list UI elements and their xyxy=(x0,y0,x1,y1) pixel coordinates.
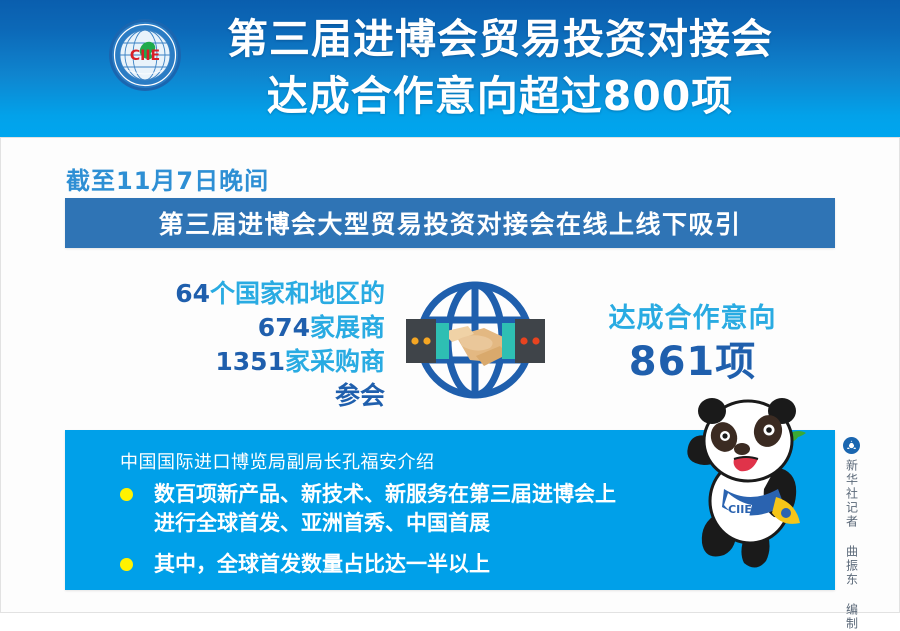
stat-label: 参会 xyxy=(335,381,385,410)
deal-label: 达成合作意向 xyxy=(565,302,820,336)
bullet-dot-icon xyxy=(120,558,133,571)
infographic-root: CIIE 第三届进博会贸易投资对接会 达成合作意向超过800项 截至11月7日晚… xyxy=(0,0,900,613)
stat-row: 674家展商 xyxy=(110,311,385,345)
stats-right-group: 达成合作意向 861项 xyxy=(565,302,820,386)
subtitle-banner-text: 第三届进博会大型贸易投资对接会在线上线下吸引 xyxy=(158,205,741,241)
deal-value: 861项 xyxy=(565,338,820,386)
list-item-line: 数百项新产品、新技术、新服务在第三届进博会上 xyxy=(154,480,740,509)
list-item: 其中，全球首发数量占比达一半以上 xyxy=(120,550,740,579)
xinhua-logo-icon xyxy=(843,437,860,454)
credit-block: 新华社记者 曲振东 编制 xyxy=(838,437,864,631)
stat-number: 64 xyxy=(175,279,210,308)
list-item-line: 其中，全球首发数量占比达一半以上 xyxy=(154,550,740,579)
credit-text: 新华社记者 曲振东 编制 xyxy=(844,459,859,631)
list-item: 数百项新产品、新技术、新服务在第三届进博会上 进行全球首发、亚洲首秀、中国首展 xyxy=(120,480,740,538)
ciie-logo-text: CIIE xyxy=(130,48,160,64)
stat-label: 个国家和地区的 xyxy=(210,279,385,308)
stats-left-group: 64个国家和地区的 674家展商 1351家采购商 参会 xyxy=(110,277,385,413)
subtitle-banner: 第三届进博会大型贸易投资对接会在线上线下吸引 xyxy=(65,198,835,248)
stat-number: 1351 xyxy=(215,347,285,376)
ciie-logo-icon: CIIE xyxy=(108,18,182,92)
source-note: 中国国际进口博览局副局长孔福安介绍 xyxy=(120,448,435,474)
stat-label: 家展商 xyxy=(310,313,385,342)
date-label: 截至11月7日晚间 xyxy=(66,161,269,196)
stat-row: 参会 xyxy=(110,379,385,413)
mascot-scarf-text: CIIE xyxy=(728,503,752,516)
stat-row: 64个国家和地区的 xyxy=(110,277,385,311)
stat-number: 674 xyxy=(258,313,310,342)
header-title-line-2: 达成合作意向超过800项 xyxy=(190,68,810,125)
bullet-dot-icon xyxy=(120,488,133,501)
stat-label: 家采购商 xyxy=(285,347,385,376)
globe-handshake-icon xyxy=(396,276,554,404)
list-item-line: 进行全球首发、亚洲首秀、中国首展 xyxy=(154,509,740,538)
jinbao-panda-mascot-icon: CIIE xyxy=(678,393,830,583)
stat-row: 1351家采购商 xyxy=(110,345,385,379)
header-title-line-1: 第三届进博会贸易投资对接会 xyxy=(190,11,810,68)
header-title-block: 第三届进博会贸易投资对接会 达成合作意向超过800项 xyxy=(190,11,810,129)
header-banner: CIIE 第三届进博会贸易投资对接会 达成合作意向超过800项 xyxy=(0,0,900,137)
highlights-list: 数百项新产品、新技术、新服务在第三届进博会上 进行全球首发、亚洲首秀、中国首展 … xyxy=(120,480,740,591)
